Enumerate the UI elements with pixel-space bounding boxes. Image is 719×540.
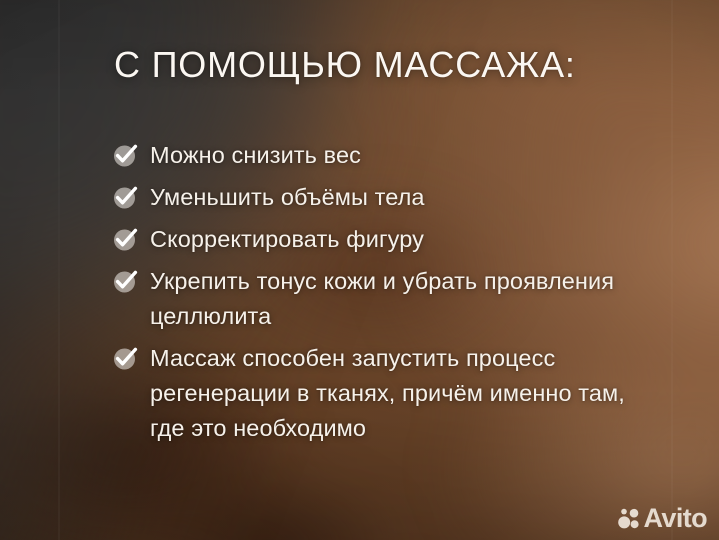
list-item: Укрепить тонус кожи и убрать проявления … xyxy=(112,264,632,334)
list-item-label: Скорректировать фигуру xyxy=(150,222,424,257)
content-overlay: С ПОМОЩЬЮ МАССАЖА: Можно снизить вес xyxy=(0,0,719,540)
checkmark-icon xyxy=(112,142,138,168)
list-item: Можно снизить вес xyxy=(112,138,632,173)
list-item-label: Можно снизить вес xyxy=(150,138,361,173)
page-title: С ПОМОЩЬЮ МАССАЖА: xyxy=(114,44,576,86)
list-item-label: Уменьшить объёмы тела xyxy=(150,180,425,215)
avito-watermark: Avito xyxy=(617,505,708,532)
benefits-list: Можно снизить вес Уменьшить объёмы тела xyxy=(112,138,632,453)
checkmark-icon xyxy=(112,226,138,252)
avito-dots-icon xyxy=(617,507,641,531)
checkmark-icon xyxy=(112,268,138,294)
promo-image: С ПОМОЩЬЮ МАССАЖА: Можно снизить вес xyxy=(0,0,719,540)
avito-wordmark: Avito xyxy=(644,505,708,532)
list-item: Массаж способен запустить процесс регене… xyxy=(112,341,632,446)
list-item: Скорректировать фигуру xyxy=(112,222,632,257)
list-item: Уменьшить объёмы тела xyxy=(112,180,632,215)
checkmark-icon xyxy=(112,184,138,210)
list-item-label: Массаж способен запустить процесс регене… xyxy=(150,341,632,446)
list-item-label: Укрепить тонус кожи и убрать проявления … xyxy=(150,264,632,334)
checkmark-icon xyxy=(112,345,138,371)
